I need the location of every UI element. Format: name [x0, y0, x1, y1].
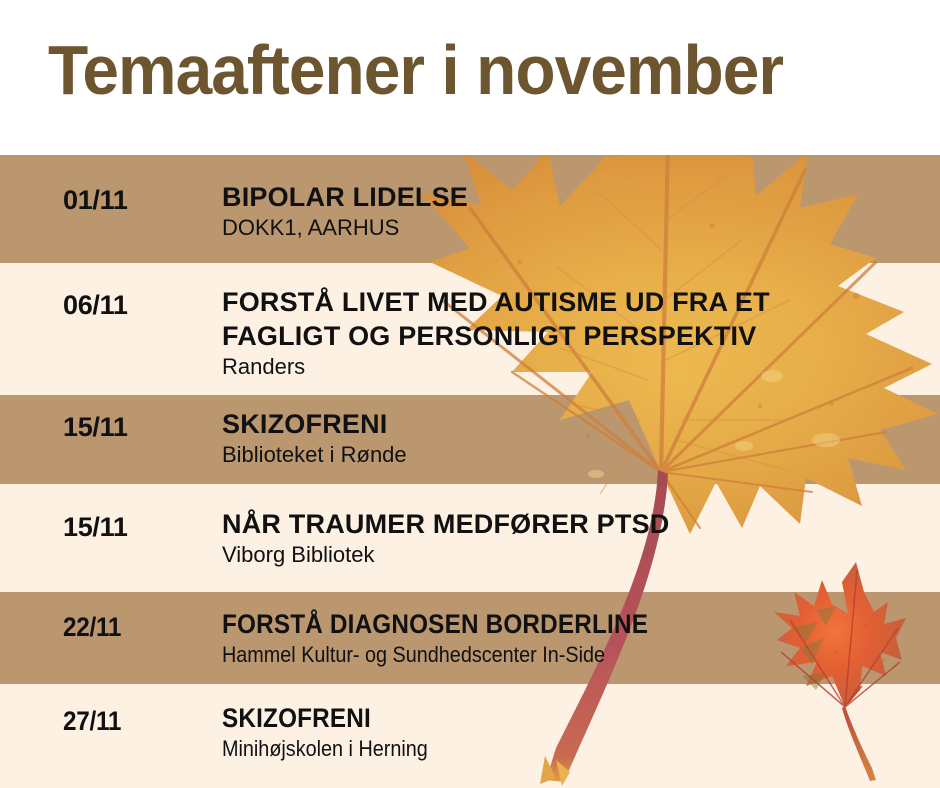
poster-header: Temaaftener i november — [0, 0, 940, 155]
event-row[interactable]: 15/11 SKIZOFRENI Biblioteket i Rønde — [0, 395, 940, 484]
event-date: 15/11 — [63, 412, 128, 442]
event-date: 27/11 — [63, 706, 121, 736]
event-details: NÅR TRAUMER MEDFØRER PTSD Viborg Bibliot… — [222, 507, 922, 569]
event-row[interactable]: 22/11 FORSTÅ DIAGNOSEN BORDERLINE Hammel… — [0, 592, 940, 684]
event-row[interactable]: 01/11 BIPOLAR LIDELSE DOKK1, AARHUS — [0, 155, 940, 263]
event-date: 06/11 — [63, 290, 128, 320]
poster-canvas: Temaaftener i november 01/11 BIPOLAR LID… — [0, 0, 940, 788]
event-date: 01/11 — [63, 185, 128, 215]
event-title: BIPOLAR LIDELSE — [222, 180, 922, 214]
event-date: 22/11 — [63, 612, 121, 642]
event-details: BIPOLAR LIDELSE DOKK1, AARHUS — [222, 180, 922, 242]
page-title: Temaaftener i november — [48, 28, 783, 112]
event-venue: Minihøjskolen i Herning — [222, 735, 852, 763]
event-date: 15/11 — [63, 512, 128, 542]
event-venue: Viborg Bibliotek — [222, 541, 922, 569]
event-details: FORSTÅ DIAGNOSEN BORDERLINE Hammel Kultu… — [222, 607, 922, 669]
event-venue: Biblioteket i Rønde — [222, 441, 922, 469]
event-title: NÅR TRAUMER MEDFØRER PTSD — [222, 507, 922, 541]
event-row[interactable]: 15/11 NÅR TRAUMER MEDFØRER PTSD Viborg B… — [0, 484, 940, 592]
event-row[interactable]: 27/11 SKIZOFRENI Minihøjskolen i Herning — [0, 684, 940, 788]
event-venue: DOKK1, AARHUS — [222, 214, 922, 242]
event-details: SKIZOFRENI Minihøjskolen i Herning — [222, 701, 922, 763]
event-title: FORSTÅ LIVET MED AUTISME UD FRA ET FAGLI… — [222, 285, 922, 353]
event-details: FORSTÅ LIVET MED AUTISME UD FRA ET FAGLI… — [222, 285, 922, 381]
event-venue: Randers — [222, 353, 922, 381]
event-row[interactable]: 06/11 FORSTÅ LIVET MED AUTISME UD FRA ET… — [0, 263, 940, 395]
event-title: FORSTÅ DIAGNOSEN BORDERLINE — [222, 607, 852, 641]
event-details: SKIZOFRENI Biblioteket i Rønde — [222, 407, 922, 469]
event-venue: Hammel Kultur- og Sundhedscenter In-Side — [222, 641, 852, 669]
event-title: SKIZOFRENI — [222, 407, 922, 441]
event-title: SKIZOFRENI — [222, 701, 852, 735]
